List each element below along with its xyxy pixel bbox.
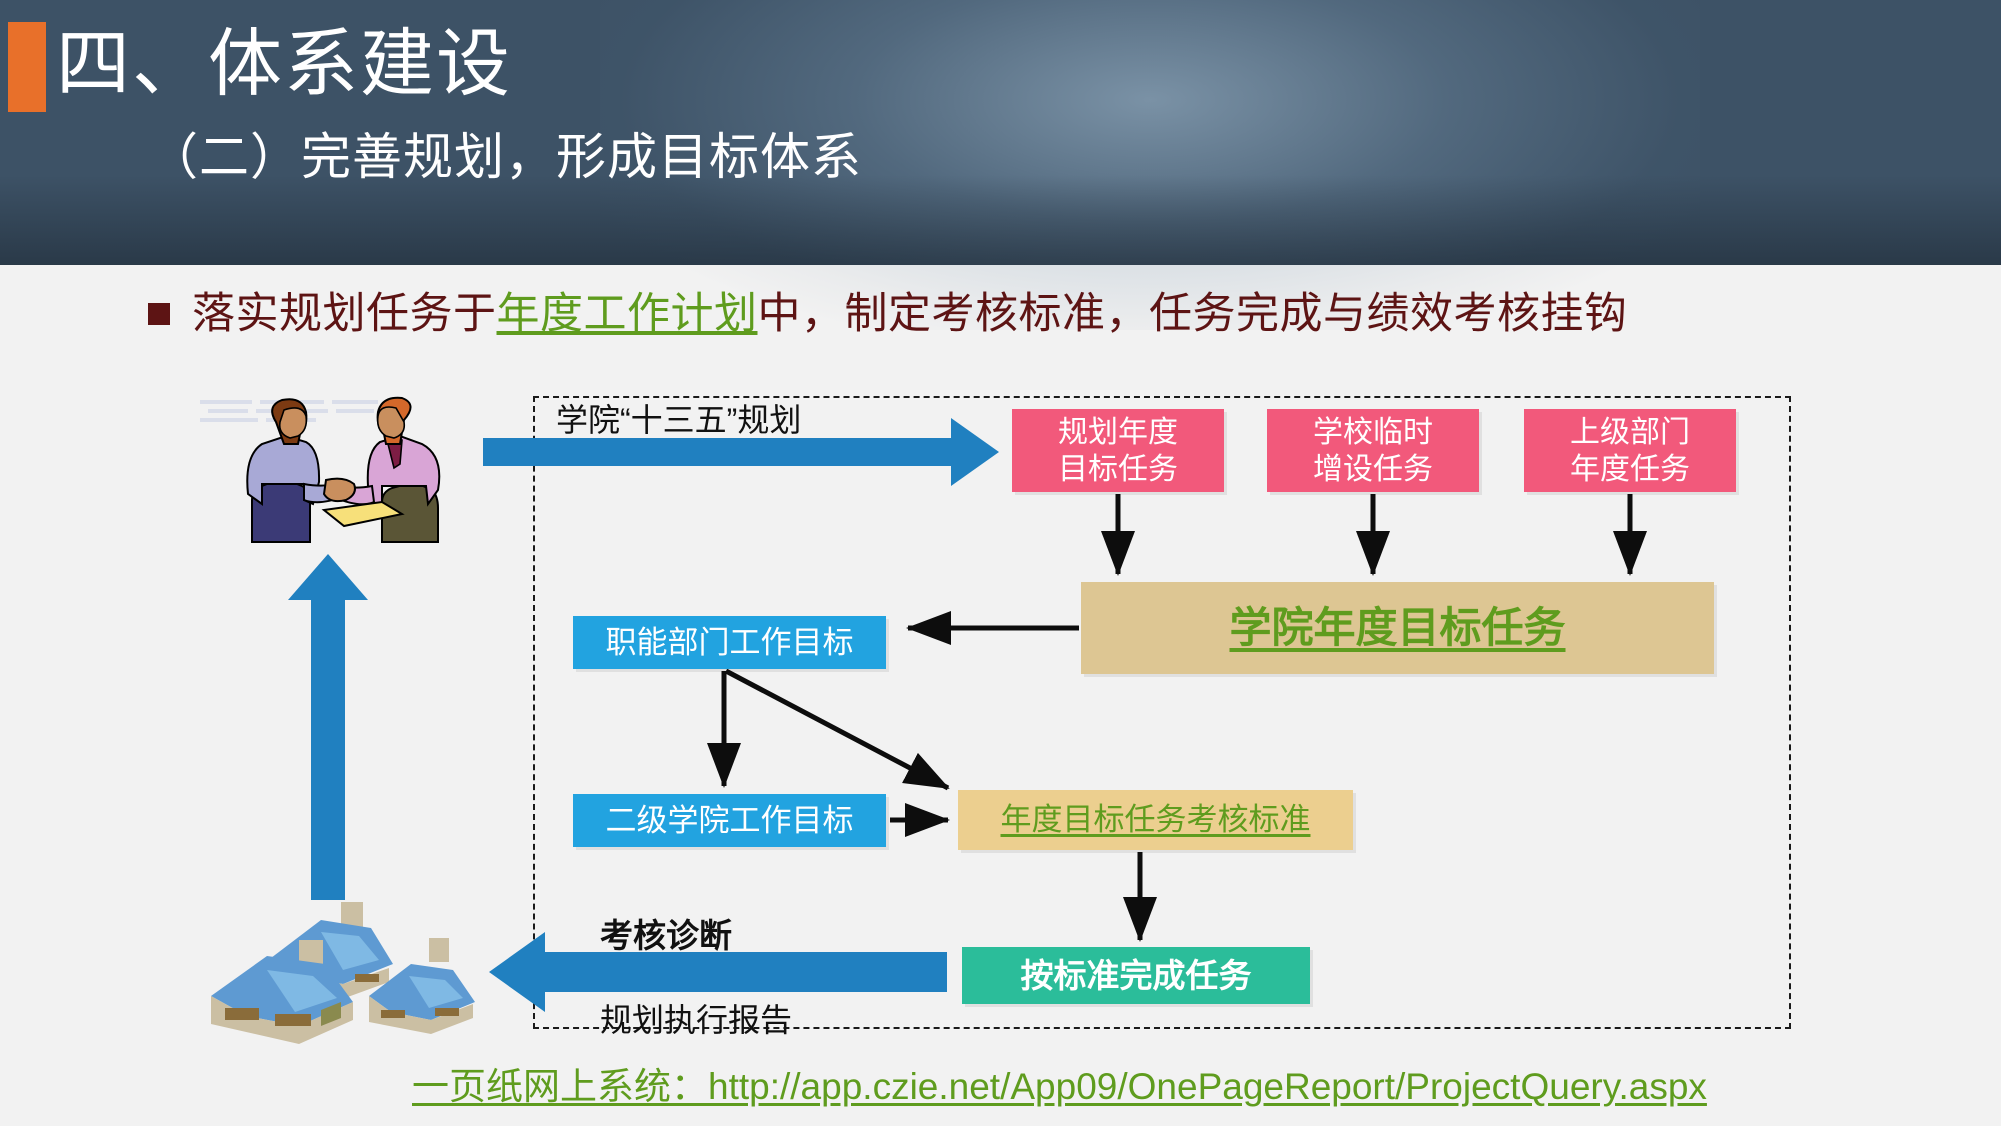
- bullet-square-icon: [148, 303, 170, 325]
- node-label: 按标准完成任务: [1021, 956, 1252, 996]
- node-line-1: 学校临时: [1313, 414, 1433, 451]
- node-line-2: 年度任务: [1570, 451, 1690, 488]
- node-secondary-college-goals[interactable]: 二级学院工作目标: [573, 794, 886, 847]
- blue-up-arrow: [288, 554, 368, 900]
- campus-buildings-clipart-icon: [203, 898, 485, 1050]
- bullet-text-part1: 落实规划任务于: [192, 288, 497, 340]
- node-line-2: 增设任务: [1313, 451, 1433, 488]
- page-subtitle: （二）完善规划，形成目标体系: [148, 122, 862, 192]
- slide-header: 四、体系建设 （二）完善规划，形成目标体系: [0, 0, 2001, 265]
- node-superior-dept-tasks[interactable]: 上级部门 年度任务: [1524, 409, 1736, 492]
- label-assessment-diagnosis: 考核诊断: [600, 916, 732, 956]
- bullet-text-part2: 中，制定考核标准，任务完成与绩效考核挂钩: [758, 288, 1628, 340]
- node-label: 年度目标任务考核标准: [1001, 801, 1311, 839]
- node-label: 二级学院工作目标: [606, 802, 854, 840]
- page-title: 四、体系建设: [56, 12, 512, 116]
- orange-accent-bar: [8, 22, 46, 112]
- bullet-text-highlight: 年度工作计划: [497, 288, 758, 340]
- node-planned-annual-targets[interactable]: 规划年度 目标任务: [1012, 409, 1224, 492]
- onepage-system-link[interactable]: 一页纸网上系统：http://app.czie.net/App09/OnePag…: [412, 1064, 1707, 1110]
- node-school-temporary-tasks[interactable]: 学校临时 增设任务: [1267, 409, 1479, 492]
- label-plan-execution-report: 规划执行报告: [600, 1000, 792, 1040]
- node-line-1: 规划年度: [1058, 414, 1178, 451]
- node-line-1: 上级部门: [1570, 414, 1690, 451]
- node-task-completed[interactable]: 按标准完成任务: [962, 947, 1310, 1004]
- node-functional-dept-goals[interactable]: 职能部门工作目标: [573, 616, 886, 669]
- node-line-2: 目标任务: [1058, 451, 1178, 488]
- slide-canvas: 四、体系建设 （二）完善规划，形成目标体系 落实规划任务于 年度工作计划 中，制…: [0, 0, 2001, 1126]
- bullet-line: 落实规划任务于 年度工作计划 中，制定考核标准，任务完成与绩效考核挂钩: [148, 288, 1628, 340]
- node-college-annual-targets[interactable]: 学院年度目标任务: [1081, 582, 1714, 674]
- label-college-13th-five-year-plan: 学院“十三五”规划: [556, 400, 801, 440]
- node-label: 学院年度目标任务: [1229, 603, 1565, 653]
- node-label: 职能部门工作目标: [606, 624, 854, 662]
- handshake-clipart-icon: [186, 382, 446, 560]
- node-assessment-standard[interactable]: 年度目标任务考核标准: [958, 790, 1353, 850]
